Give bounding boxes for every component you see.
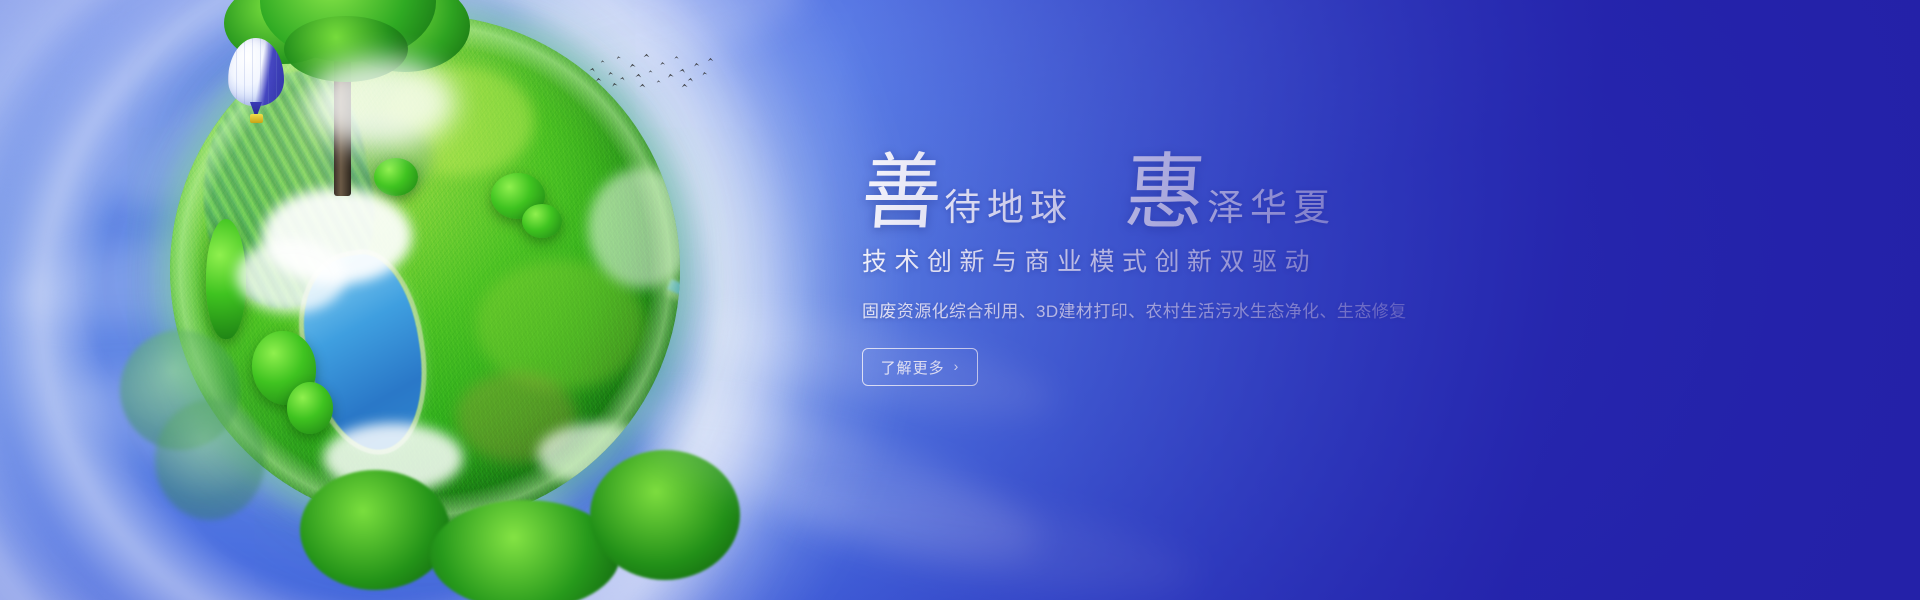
- bird: [608, 72, 613, 76]
- bird: [596, 78, 602, 82]
- bird: [639, 84, 645, 88]
- bird: [629, 63, 635, 67]
- tree-mist: [306, 58, 456, 148]
- bird: [611, 82, 617, 86]
- bird: [589, 67, 595, 71]
- hero-banner: 善 待地球 惠 泽华夏 技术创新与商业模式创新双驱动 固废资源化综合利用、3D建…: [0, 0, 1920, 600]
- headline-group-1: 善 待地球: [862, 156, 1073, 230]
- hot-air-balloon: [228, 38, 284, 130]
- page-description: 固废资源化综合利用、3D建材打印、农村生活污水生态净化、生态修复: [862, 297, 1762, 322]
- bird: [643, 54, 649, 58]
- hero-copy-block: 善 待地球 惠 泽华夏 技术创新与商业模式创新双驱动 固废资源化综合利用、3D建…: [862, 126, 1762, 386]
- bird: [708, 58, 714, 61]
- bird: [694, 62, 700, 66]
- balloon-basket: [250, 114, 263, 123]
- foreground-tree: [300, 470, 450, 590]
- headline-group-2: 惠 泽华夏: [1125, 156, 1336, 230]
- bird: [616, 56, 621, 60]
- bird: [702, 71, 708, 75]
- page-title: 善 待地球 惠 泽华夏: [862, 126, 1762, 230]
- learn-more-label: 了解更多: [881, 357, 945, 378]
- bird: [600, 60, 604, 63]
- learn-more-button[interactable]: 了解更多 ›: [862, 348, 978, 386]
- headline-char-large: 善: [859, 155, 944, 232]
- bird: [620, 76, 626, 80]
- bird: [648, 70, 652, 72]
- chevron-right-icon: ›: [954, 358, 960, 374]
- bird: [679, 68, 686, 73]
- bird: [688, 77, 694, 81]
- bird: [660, 62, 665, 66]
- bird: [635, 73, 641, 77]
- page-subtitle: 技术创新与商业模式创新双驱动: [862, 242, 1762, 278]
- headline-text-small: 泽华夏: [1207, 189, 1336, 230]
- bird-flock: [586, 50, 716, 96]
- headline-text-small: 待地球: [944, 189, 1073, 230]
- bird: [681, 84, 687, 88]
- foreground-tree: [590, 450, 740, 580]
- bird: [667, 73, 674, 78]
- balloon-neck: [250, 102, 262, 114]
- balloon-envelope: [228, 38, 284, 106]
- bird: [656, 80, 660, 83]
- headline-char-large: 惠: [1122, 155, 1207, 232]
- background-tree: [155, 400, 265, 520]
- bird: [674, 56, 679, 59]
